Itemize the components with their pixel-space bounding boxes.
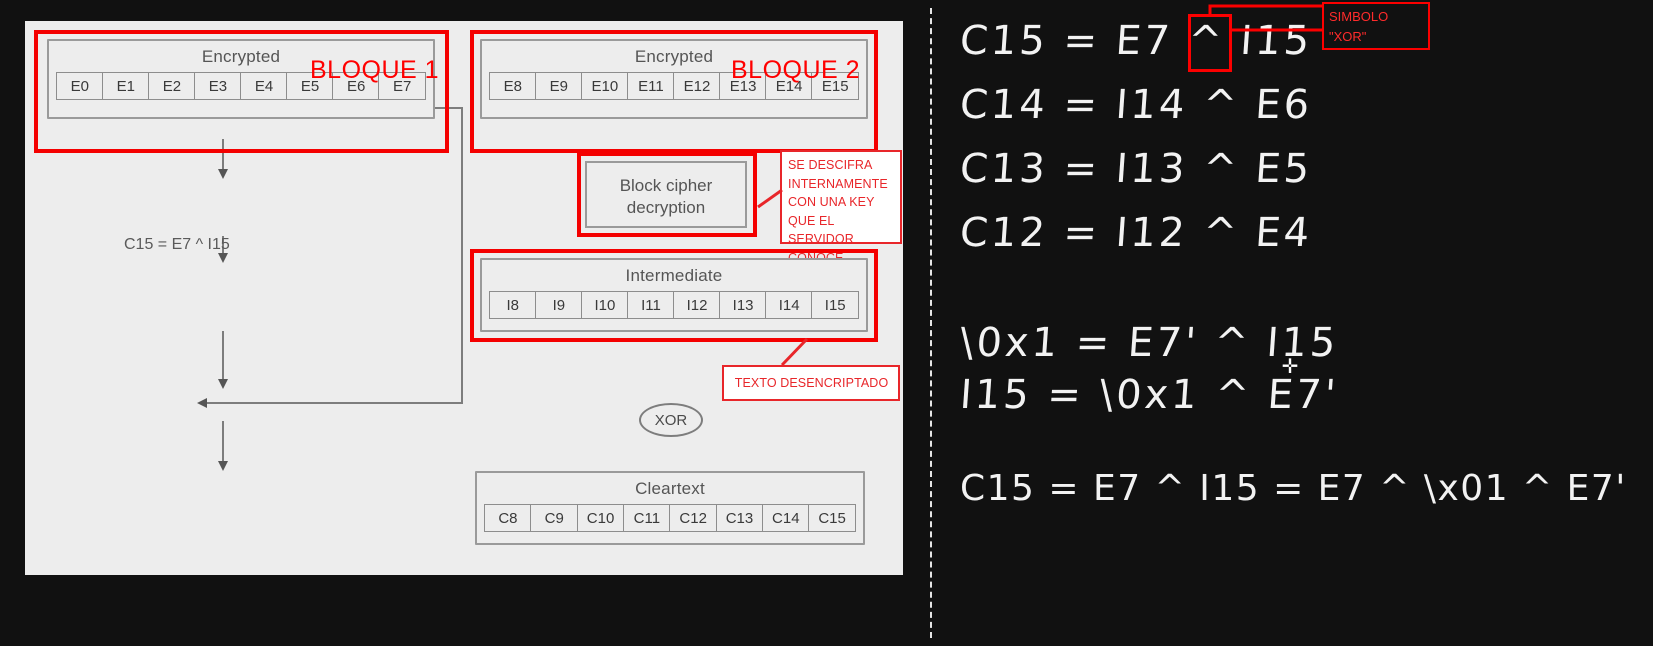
cell: I14 [765, 291, 813, 319]
cleartext-cells: C8 C9 C10 C11 C12 C13 C14 C15 [484, 504, 856, 532]
cell: I15 [811, 291, 859, 319]
cleartext-block: Cleartext C8 C9 C10 C11 C12 C13 C14 C15 [475, 471, 865, 545]
cell: E3 [194, 72, 242, 100]
bloque-1-label: BLOQUE 1 [310, 56, 439, 85]
cell: C14 [762, 504, 810, 532]
cell: C10 [577, 504, 625, 532]
cell: E1 [102, 72, 150, 100]
xor-node: XOR [639, 403, 703, 437]
texto-desencriptado-note: TEXTO DESENCRIPTADO [722, 365, 900, 401]
note-line-1: C15 = E7 ^ I15 [958, 18, 1313, 64]
xor-symbol-highlight [1188, 14, 1232, 72]
block-cipher-line-2: decryption [587, 197, 745, 219]
cell: E0 [56, 72, 104, 100]
cell: C12 [669, 504, 717, 532]
diagram-formula: C15 = E7 ^ I15 [124, 236, 230, 254]
cell: I12 [673, 291, 721, 319]
cell: I11 [627, 291, 675, 319]
cleartext-title: Cleartext [477, 473, 863, 499]
bloque-2-label: BLOQUE 2 [731, 56, 860, 85]
cell: E8 [489, 72, 537, 100]
block-cipher-line-1: Block cipher [587, 175, 745, 197]
panel-divider [930, 8, 932, 638]
move-cursor-icon: ✛ [1279, 356, 1301, 378]
cell: E11 [627, 72, 675, 100]
xor-symbol-callout: SIMBOLO "XOR" [1322, 2, 1430, 50]
cell: I9 [535, 291, 583, 319]
note-line-2: C14 = I14 ^ E6 [958, 82, 1313, 128]
cell: E9 [535, 72, 583, 100]
server-key-note: SE DESCIFRA INTERNAMENTE CON UNA KEY QUE… [780, 150, 902, 244]
cell: I10 [581, 291, 629, 319]
cell: I13 [719, 291, 767, 319]
xor-label: XOR [655, 412, 688, 429]
note-final-line: C15 = E7 ^ I15 = E7 ^ \x01 ^ E7' [960, 468, 1627, 509]
cell: E10 [581, 72, 629, 100]
cell: I8 [489, 291, 537, 319]
cell: C8 [484, 504, 532, 532]
block-cipher-decryption-box: Block cipher decryption [585, 161, 747, 228]
cell: E2 [148, 72, 196, 100]
intermediate-block: Intermediate I8 I9 I10 I11 I12 I13 I14 I… [480, 258, 868, 332]
cell: C13 [716, 504, 764, 532]
notes-panel: C15 = E7 ^ I15 C14 = I14 ^ E6 C13 = I13 … [950, 0, 1650, 646]
note-line-3: C13 = I13 ^ E5 [958, 146, 1313, 192]
cell: E12 [673, 72, 721, 100]
cell: C9 [530, 504, 578, 532]
cell: E4 [240, 72, 288, 100]
note-line-4: C12 = I12 ^ E4 [958, 210, 1313, 256]
note-line-6: I15 = \0x1 ^ E7' [958, 372, 1340, 418]
cell: C15 [808, 504, 856, 532]
intermediate-cells: I8 I9 I10 I11 I12 I13 I14 I15 [489, 291, 859, 319]
diagram-panel: Encrypted E0 E1 E2 E3 E4 E5 E6 E7 BLOQUE… [25, 21, 903, 575]
cell: C11 [623, 504, 671, 532]
intermediate-title: Intermediate [482, 260, 866, 286]
